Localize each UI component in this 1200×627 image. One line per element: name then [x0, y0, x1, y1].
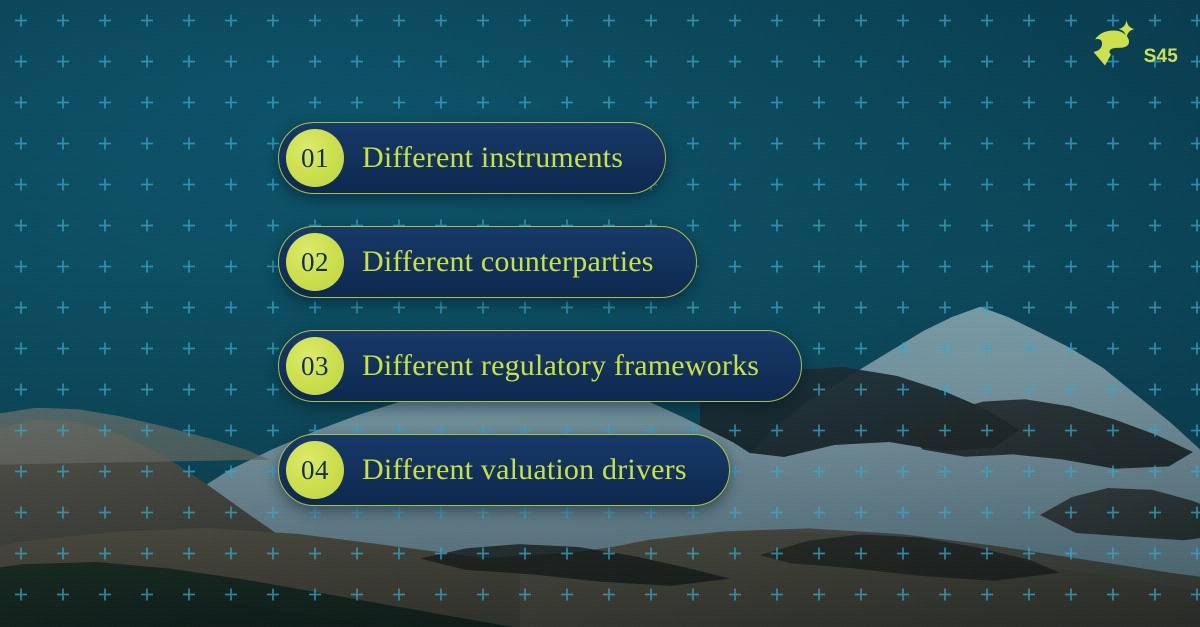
- list-item[interactable]: 02 Different counterparties: [278, 226, 697, 298]
- logo-text: S45: [1144, 47, 1178, 66]
- item-number-badge: 02: [286, 233, 344, 291]
- brand-logo[interactable]: S45: [1090, 18, 1178, 68]
- list-item-label: Different regulatory frameworks: [362, 351, 759, 381]
- item-number-badge: 03: [286, 337, 344, 395]
- list-item-label: Different instruments: [362, 143, 623, 173]
- numbered-list: 01 Different instruments 02 Different co…: [278, 122, 802, 506]
- list-item[interactable]: 03 Different regulatory frameworks: [278, 330, 802, 402]
- item-number-badge: 01: [286, 129, 344, 187]
- list-item[interactable]: 04 Different valuation drivers: [278, 434, 730, 506]
- list-item-label: Different counterparties: [362, 247, 654, 277]
- list-item-label: Different valuation drivers: [362, 455, 687, 485]
- slide-canvas: S45 01 Different instruments 02 Differen…: [0, 0, 1200, 627]
- s45-diamond-sparkle-icon: [1090, 18, 1142, 68]
- list-item[interactable]: 01 Different instruments: [278, 122, 666, 194]
- item-number-badge: 04: [286, 441, 344, 499]
